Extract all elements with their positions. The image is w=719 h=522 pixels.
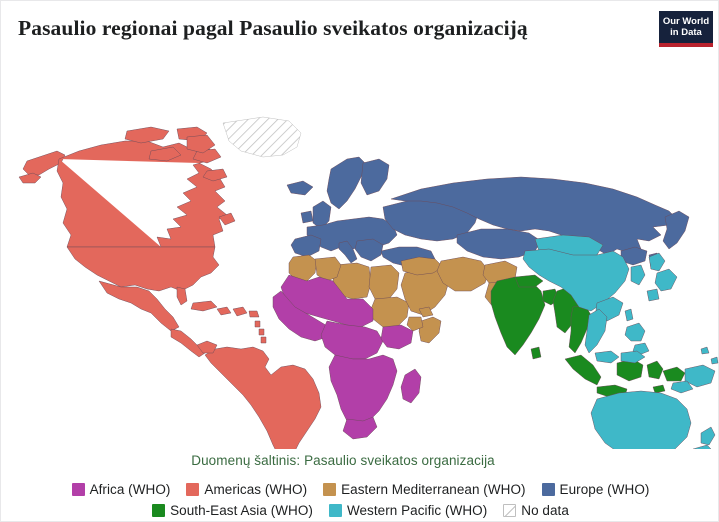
legend-label-americas: Americas (WHO) xyxy=(204,482,307,497)
map-legend: Africa (WHO) Americas (WHO) Eastern Medi… xyxy=(1,479,719,521)
legend-item-no-data[interactable]: No data xyxy=(503,503,569,518)
legend-swatch-europe xyxy=(542,483,555,496)
legend-label-western-pacific: Western Pacific (WHO) xyxy=(347,503,487,518)
logo-line-2: in Data xyxy=(659,27,713,38)
legend-label-europe: Europe (WHO) xyxy=(560,482,650,497)
legend-swatch-no-data xyxy=(503,504,516,517)
legend-swatch-africa xyxy=(72,483,85,496)
map-region-no-data[interactable] xyxy=(223,117,301,157)
legend-item-south-east-asia[interactable]: South-East Asia (WHO) xyxy=(152,503,313,518)
legend-row-2: South-East Asia (WHO) Western Pacific (W… xyxy=(1,500,719,521)
chart-header: Pasaulio regionai pagal Pasaulio sveikat… xyxy=(1,1,719,59)
legend-swatch-western-pacific xyxy=(329,504,342,517)
legend-label-south-east-asia: South-East Asia (WHO) xyxy=(170,503,313,518)
map-region-europe[interactable] xyxy=(287,157,689,269)
map-region-western-pacific[interactable] xyxy=(523,235,718,449)
legend-item-western-pacific[interactable]: Western Pacific (WHO) xyxy=(329,503,487,518)
our-world-in-data-logo[interactable]: Our World in Data xyxy=(659,11,713,47)
legend-item-europe[interactable]: Europe (WHO) xyxy=(542,482,650,497)
logo-line-1: Our World xyxy=(663,16,709,27)
chart-frame: Pasaulio regionai pagal Pasaulio sveikat… xyxy=(0,0,719,522)
legend-label-eastern-mediterranean: Eastern Mediterranean (WHO) xyxy=(341,482,525,497)
legend-item-americas[interactable]: Americas (WHO) xyxy=(186,482,307,497)
legend-swatch-south-east-asia xyxy=(152,504,165,517)
legend-item-africa[interactable]: Africa (WHO) xyxy=(72,482,171,497)
legend-label-no-data: No data xyxy=(521,503,569,518)
legend-item-eastern-mediterranean[interactable]: Eastern Mediterranean (WHO) xyxy=(323,482,525,497)
legend-swatch-americas xyxy=(186,483,199,496)
world-map[interactable] xyxy=(1,59,719,449)
legend-row-1: Africa (WHO) Americas (WHO) Eastern Medi… xyxy=(1,479,719,500)
legend-label-africa: Africa (WHO) xyxy=(90,482,171,497)
legend-swatch-eastern-mediterranean xyxy=(323,483,336,496)
source-note: Duomenų šaltinis: Pasaulio sveikatos org… xyxy=(1,453,719,468)
map-region-americas[interactable] xyxy=(19,127,321,449)
page-title: Pasaulio regionai pagal Pasaulio sveikat… xyxy=(18,15,618,41)
